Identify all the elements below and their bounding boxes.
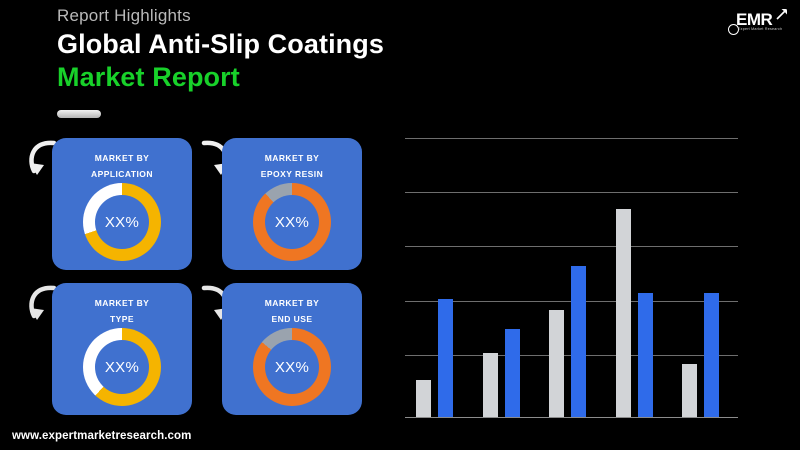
donut-value: XX% [275,214,309,231]
donut-chart: XX% [83,183,161,261]
card-title-line2: TYPE [52,314,192,324]
bar-series2-3 [571,266,586,418]
header: Report Highlights Global Anti-Slip Coati… [0,0,800,125]
card-title-line1: MARKET BY [52,298,192,308]
donut-chart: XX% [83,328,161,406]
bar-series1-1 [416,380,431,418]
chart-baseline [405,417,738,419]
donut-center: XX% [95,340,149,394]
logo-tagline: Expert Market Research [738,27,782,31]
page-title-line2: Market Report [57,62,240,93]
footer-website[interactable]: www.expertmarketresearch.com [12,430,191,442]
bar-series2-5 [704,293,719,418]
gridline [405,246,738,247]
card-market-by-application[interactable]: MARKET BY APPLICATION XX% [52,138,192,270]
donut-value: XX% [105,214,139,231]
bar-series1-2 [483,353,498,418]
bar-series2-1 [438,299,453,418]
donut-center: XX% [265,195,319,249]
title-divider [57,110,101,118]
donut-value: XX% [275,359,309,376]
card-title-line2: APPLICATION [52,169,192,179]
emr-logo[interactable]: EMR Expert Market Research [726,6,792,36]
bar-series1-3 [549,310,564,418]
bar-series2-4 [638,293,653,418]
donut-center: XX% [95,195,149,249]
donut-value: XX% [105,359,139,376]
growth-arrow-icon [774,6,790,22]
donut-chart: XX% [253,328,331,406]
card-title-line1: MARKET BY [222,298,362,308]
donut-chart: XX% [253,183,331,261]
card-title-line2: EPOXY RESIN [222,169,362,179]
page-title-line1: Global Anti-Slip Coatings [57,29,384,60]
slide-canvas: Report Highlights Global Anti-Slip Coati… [0,0,800,450]
card-title-line1: MARKET BY [52,153,192,163]
card-market-by-epoxy-resin[interactable]: MARKET BY EPOXY RESIN XX% [222,138,362,270]
card-title-line2: END USE [222,314,362,324]
kicker-text: Report Highlights [57,6,191,26]
bar-series1-4 [616,209,631,418]
bar-series1-5 [682,364,697,418]
bar-series2-2 [505,329,520,418]
card-title-line1: MARKET BY [222,153,362,163]
gridline [405,138,738,139]
bar-chart [405,138,750,418]
donut-center: XX% [265,340,319,394]
gridline [405,192,738,193]
card-market-by-type[interactable]: MARKET BY TYPE XX% [52,283,192,415]
card-market-by-end-use[interactable]: MARKET BY END USE XX% [222,283,362,415]
